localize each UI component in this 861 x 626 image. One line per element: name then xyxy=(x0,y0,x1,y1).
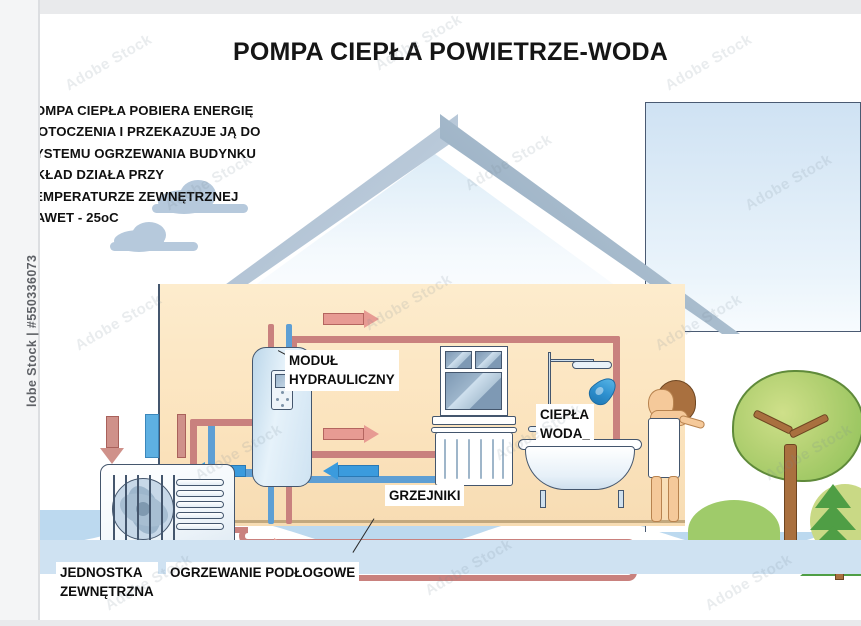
window-pane-top-left xyxy=(445,351,472,369)
bathtub-leg-right xyxy=(618,490,624,508)
pipe-vertical-red-outdoor xyxy=(177,414,186,458)
description-line-4: UKŁAD DZIAŁA PRZY xyxy=(40,164,326,185)
pipe-supply-top-left-run xyxy=(190,419,254,426)
arrow-supply-top xyxy=(323,310,379,328)
window-frame xyxy=(440,346,508,416)
description-line-1: POMPA CIEPŁA POBIERA ENERGIĘ xyxy=(40,100,326,121)
pipe-module-bottom-red xyxy=(286,484,292,524)
watermark-tile: Adobe Stock xyxy=(72,291,165,354)
label-hot-water: CIEPŁA WODA_ xyxy=(536,404,594,445)
outdoor-unit-body[interactable] xyxy=(100,464,235,552)
pipe-module-bottom-blue xyxy=(268,484,274,524)
diagram-area: POMPA CIEPŁA POWIETRZE-WODA POMPA CIEPŁA… xyxy=(40,14,861,620)
bathtub-leg-left xyxy=(540,490,546,508)
pipe-supply-radiator xyxy=(290,451,440,458)
window-pane-top-right xyxy=(475,351,502,369)
person-leg-left xyxy=(651,476,662,522)
description-line-2: Z OTOCZENIA I PRZEKAZUJE JĄ DO xyxy=(40,121,326,142)
page-title: POMPA CIEPŁA POWIETRZE-WODA xyxy=(40,38,861,67)
description-line-5: TEMPERATURZE ZEWNĘTRZNEJ xyxy=(40,186,326,207)
person-leg-right xyxy=(668,476,679,522)
label-outdoor-unit: JEDNOSTKA ZEWNĘTRZNA xyxy=(56,562,158,603)
infographic-canvas: lobe Stock | #550336073 xyxy=(0,0,861,626)
window-pane-bottom xyxy=(445,372,502,410)
description-line-6: NAWET - 25oC xyxy=(40,207,326,228)
shower-head xyxy=(572,361,612,369)
arrow-return-mid xyxy=(323,462,379,480)
top-frame-band xyxy=(0,0,861,14)
heat-exchanger-fins xyxy=(176,479,224,539)
label-floor-heating: OGRZEWANIE PODŁOGOWE xyxy=(166,562,359,583)
person-towel xyxy=(648,418,680,478)
arrow-supply-mid xyxy=(323,425,379,443)
sidebar-watermark: lobe Stock | #550336073 xyxy=(25,207,39,407)
label-radiators: GRZEJNIKI xyxy=(385,485,464,506)
label-hydraulic-module: MODUŁ HYDRAULICZNY xyxy=(285,350,399,391)
window-sill xyxy=(432,416,516,425)
description-text: POMPA CIEPŁA POBIERA ENERGIĘ Z OTOCZENIA… xyxy=(40,100,326,228)
description-line-3: SYSTEMU OGRZEWANIA BUDYNKU xyxy=(40,143,326,164)
pipe-supply-top xyxy=(290,336,620,343)
bottom-frame-band xyxy=(0,620,861,626)
pipe-vertical-blue-outdoor xyxy=(145,414,159,458)
radiator-unit xyxy=(435,432,513,486)
ground-strip xyxy=(40,540,861,574)
fan-grille xyxy=(109,475,177,543)
